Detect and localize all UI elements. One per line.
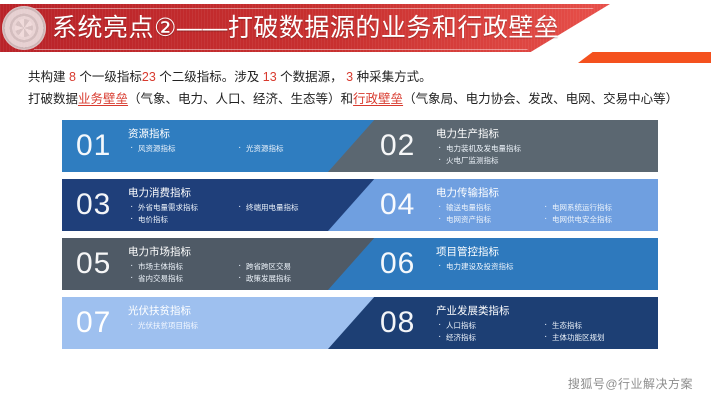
card-sub-item: 终端用电量指标 xyxy=(236,202,344,214)
card-row-4: 07 光伏扶贫指标 光伏扶贫项目指标 08 产业发展类指标 人口指标 生态指标 … xyxy=(62,297,658,349)
card-sub-item: 电网供电安全指标 xyxy=(542,214,648,226)
intro-l1-part2: 个一级指标 xyxy=(76,70,142,84)
footer-watermark: 搜狐号@行业解决方案 xyxy=(568,375,693,392)
card-number: 05 xyxy=(76,247,111,281)
intro-l1-part4: 个数据源， xyxy=(277,70,346,84)
card-number: 01 xyxy=(76,129,111,163)
intro-l2-part2: （气象、电力、人口、经济、生态等）和 xyxy=(128,92,353,106)
intro-l2-highlight-admin-barrier: 行政壁垒 xyxy=(353,92,403,106)
card-sub-item: 市场主体指标 xyxy=(128,261,236,273)
card-sub-item: 电价指标 xyxy=(128,214,236,226)
indicator-card-08[interactable]: 08 产业发展类指标 人口指标 生态指标 经济指标 主体功能区规划 xyxy=(328,297,658,349)
card-sub-item: 光伏扶贫项目指标 xyxy=(128,320,344,332)
intro-l2-part3: （气象局、电力协会、发改、电网、交易中心等） xyxy=(403,92,678,106)
intro-l2-part1: 打破数据 xyxy=(28,92,78,106)
intro-text-block: 共构建 8 个一级指标23 个二级指标。涉及 13 个数据源， 3 种采集方式。… xyxy=(28,66,688,110)
card-title: 产业发展类指标 xyxy=(436,304,648,318)
card-title: 电力市场指标 xyxy=(128,245,344,259)
card-sub-item: 火电厂监测指标 xyxy=(436,155,648,167)
card-number: 08 xyxy=(380,306,415,340)
card-title: 光伏扶贫指标 xyxy=(128,304,344,318)
card-sub-item: 电力建设及投资指标 xyxy=(436,261,648,273)
intro-l1-part3: 个二级指标。涉及 xyxy=(156,70,263,84)
intro-l1-num1: 8 xyxy=(69,70,76,84)
indicator-card-grid: 01 资源指标 风资源指标 光资源指标 02 电力生产指标 电力装机及发电量指标… xyxy=(62,120,658,356)
card-sub-list: 输送电量指标 电网系统运行指标 电网资产指标 电网供电安全指标 xyxy=(436,202,648,226)
card-number: 03 xyxy=(76,188,111,222)
card-sub-item: 外省电量需求指标 xyxy=(128,202,236,214)
card-sub-list: 外省电量需求指标 终端用电量指标 电价指标 xyxy=(128,202,344,226)
card-sub-item: 光资源指标 xyxy=(236,143,344,155)
header-orange-accent-bar xyxy=(578,52,711,63)
intro-line-1: 共构建 8 个一级指标23 个二级指标。涉及 13 个数据源， 3 种采集方式。 xyxy=(28,66,688,88)
intro-l1-num2: 23 xyxy=(142,70,156,84)
indicator-card-06[interactable]: 06 项目管控指标 电力建设及投资指标 xyxy=(328,238,658,290)
card-sub-item: 经济指标 xyxy=(436,332,542,344)
intro-l1-part1: 共构建 xyxy=(28,70,69,84)
card-sub-item: 省内交易指标 xyxy=(128,273,236,285)
card-sub-list: 人口指标 生态指标 经济指标 主体功能区规划 xyxy=(436,320,648,344)
card-number: 02 xyxy=(380,129,415,163)
card-sub-item: 跨省跨区交易 xyxy=(236,261,344,273)
intro-l1-part5: 种采集方式。 xyxy=(353,70,431,84)
card-sub-list: 市场主体指标 跨省跨区交易 省内交易指标 政策发展指标 xyxy=(128,261,344,285)
card-sub-item: 人口指标 xyxy=(436,320,542,332)
card-title: 电力生产指标 xyxy=(436,127,648,141)
slide-header: 系统亮点②——打破数据源的业务和行政壁垒 xyxy=(0,0,711,62)
card-sub-list: 风资源指标 光资源指标 xyxy=(128,143,344,155)
slide-canvas: 系统亮点②——打破数据源的业务和行政壁垒 共构建 8 个一级指标23 个二级指标… xyxy=(0,0,711,400)
card-sub-list: 电力装机及发电量指标 火电厂监测指标 xyxy=(436,143,648,167)
card-sub-item: 主体功能区规划 xyxy=(542,332,648,344)
card-sub-item: 风资源指标 xyxy=(128,143,236,155)
card-sub-list: 电力建设及投资指标 xyxy=(436,261,648,273)
card-row-3: 05 电力市场指标 市场主体指标 跨省跨区交易 省内交易指标 政策发展指标 06… xyxy=(62,238,658,290)
card-title: 电力消费指标 xyxy=(128,186,344,200)
card-sub-item: 电力装机及发电量指标 xyxy=(436,143,648,155)
card-row-2: 03 电力消费指标 外省电量需求指标 终端用电量指标 电价指标 04 电力传输指… xyxy=(62,179,658,231)
card-number: 07 xyxy=(76,306,111,340)
card-title: 项目管控指标 xyxy=(436,245,648,259)
card-sub-item: 电网系统运行指标 xyxy=(542,202,648,214)
card-sub-item: 电网资产指标 xyxy=(436,214,542,226)
circular-seal-emblem-icon xyxy=(2,6,46,50)
card-sub-item: 输送电量指标 xyxy=(436,202,542,214)
intro-l2-highlight-business-barrier: 业务壁垒 xyxy=(78,92,128,106)
intro-l1-num3: 13 xyxy=(263,70,277,84)
card-number: 06 xyxy=(380,247,415,281)
card-sub-list: 光伏扶贫项目指标 xyxy=(128,320,344,332)
indicator-card-02[interactable]: 02 电力生产指标 电力装机及发电量指标 火电厂监测指标 xyxy=(328,120,658,172)
page-title: 系统亮点②——打破数据源的业务和行政壁垒 xyxy=(52,11,559,45)
card-sub-item: 政策发展指标 xyxy=(236,273,344,285)
card-sub-item: 生态指标 xyxy=(542,320,648,332)
indicator-card-04[interactable]: 04 电力传输指标 输送电量指标 电网系统运行指标 电网资产指标 电网供电安全指… xyxy=(328,179,658,231)
card-number: 04 xyxy=(380,188,415,222)
card-title: 电力传输指标 xyxy=(436,186,648,200)
card-title: 资源指标 xyxy=(128,127,344,141)
intro-line-2: 打破数据业务壁垒（气象、电力、人口、经济、生态等）和行政壁垒（气象局、电力协会、… xyxy=(28,88,688,110)
card-row-1: 01 资源指标 风资源指标 光资源指标 02 电力生产指标 电力装机及发电量指标… xyxy=(62,120,658,172)
